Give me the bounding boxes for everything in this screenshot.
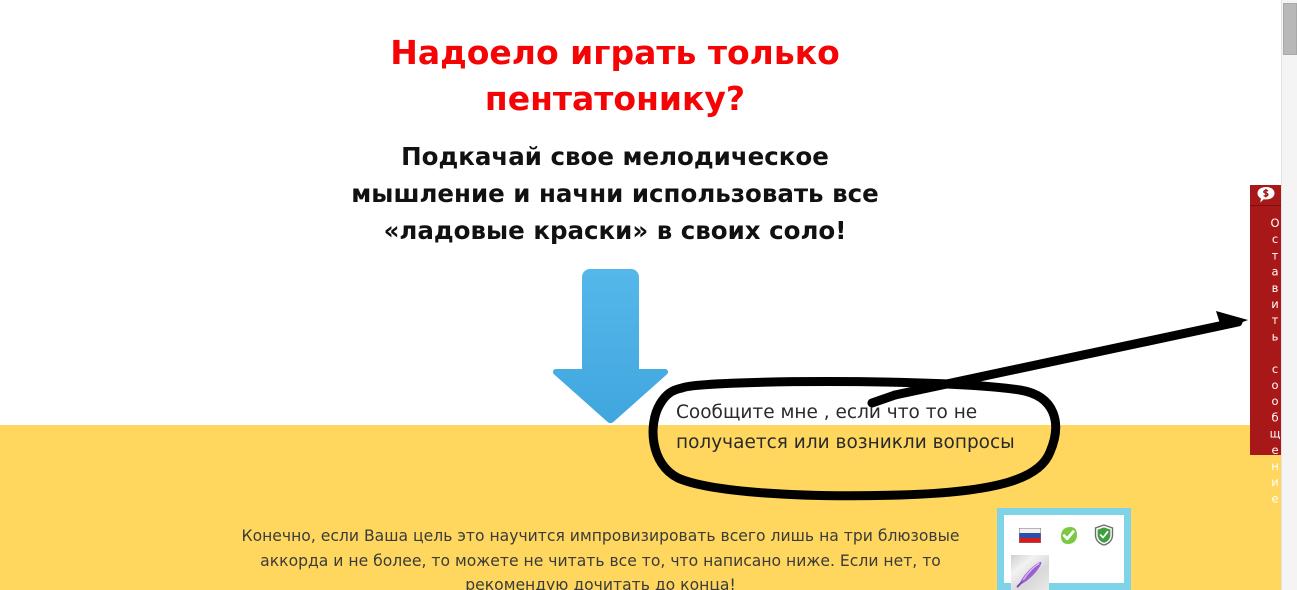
page-root: Надоело играть только пентатонику? Подка… [0, 0, 1297, 590]
purple-feather-icon[interactable] [1011, 555, 1049, 590]
green-check-icon[interactable] [1058, 525, 1079, 546]
hand-drawn-arrow-head [1216, 311, 1248, 330]
subheadline-line-1: Подкачай свое мелодическое [190, 138, 1040, 175]
intro-paragraph: Конечно, если Ваша цель это научится имп… [228, 524, 973, 590]
subheadline-line-2: мышление и начни использовать все [190, 175, 1040, 212]
headline-line-1: Надоело играть только [190, 30, 1040, 76]
annotation-line-1: Сообщите мне , если что то не [676, 398, 1056, 428]
tray-panel-inner [1004, 515, 1124, 583]
chat-bubble-icon[interactable] [1250, 185, 1282, 206]
annotation-line-2: получается или возникли вопросы [676, 428, 1056, 458]
annotation-text: Сообщите мне , если что то не получается… [676, 398, 1056, 458]
subheadline-line-3: «ладовые краски» в своих соло! [190, 212, 1040, 249]
scrollbar-thumb[interactable] [1283, 3, 1297, 55]
page-subheadline: Подкачай свое мелодическое мышление и на… [190, 138, 1040, 249]
russian-flag-icon[interactable] [1019, 528, 1041, 543]
leave-message-tab[interactable]: Оставить сообщение [1250, 185, 1282, 455]
page-headline: Надоело играть только пентатонику? [190, 30, 1040, 122]
arrow-down-icon [549, 265, 673, 425]
leave-message-label[interactable]: Оставить сообщение [1250, 206, 1282, 508]
tray-panel [997, 508, 1131, 590]
paragraph-line-2: аккорда и не более, то можете не читать … [228, 549, 973, 574]
headline-line-2: пентатонику? [190, 76, 1040, 122]
paragraph-line-3: рекомендую дочитать до конца! [228, 573, 973, 590]
hand-drawn-arrow-shaft [895, 322, 1238, 395]
paragraph-line-1: Конечно, если Ваша цель это научится имп… [228, 524, 973, 549]
green-shield-icon[interactable] [1094, 524, 1114, 546]
page-scrollbar[interactable] [1281, 0, 1297, 590]
